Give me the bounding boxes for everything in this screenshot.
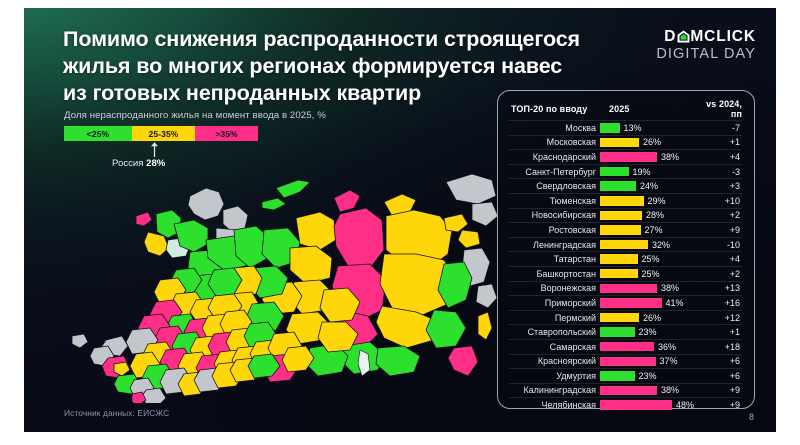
table-cell-value: 25% bbox=[600, 252, 696, 266]
table-cell-region: Пермский bbox=[508, 313, 600, 323]
table-cell-delta: +4 bbox=[696, 152, 742, 162]
table-header-name: ТОП-20 по вводу bbox=[508, 104, 599, 114]
table-row: Краснодарский38%+4 bbox=[508, 149, 742, 164]
value-label: 36% bbox=[658, 342, 676, 352]
house-icon bbox=[677, 30, 690, 43]
table-row: Башкортостан25%+2 bbox=[508, 266, 742, 281]
value-label: 38% bbox=[661, 283, 679, 293]
table-cell-delta: +4 bbox=[696, 254, 742, 264]
table-cell-delta: +9 bbox=[696, 385, 742, 395]
value-bar bbox=[600, 269, 638, 279]
value-bar bbox=[600, 167, 629, 177]
table-row: Санкт-Петербург19%-3 bbox=[508, 164, 742, 179]
value-bar bbox=[600, 181, 636, 191]
table-row: Новосибирская28%+2 bbox=[508, 208, 742, 223]
table-cell-delta: +13 bbox=[696, 283, 742, 293]
table-cell-region: Тюменская bbox=[508, 196, 600, 206]
table-cell-region: Ростовская bbox=[508, 225, 600, 235]
legend-color-scale: <25% 25-35% >35% bbox=[64, 126, 258, 141]
table-cell-delta: -10 bbox=[696, 240, 742, 250]
table-cell-delta: +6 bbox=[696, 371, 742, 381]
table-cell-region: Воронежская bbox=[508, 283, 600, 293]
table-cell-delta: +6 bbox=[696, 356, 742, 366]
table-cell-delta: -3 bbox=[696, 167, 742, 177]
table-cell-value: 32% bbox=[600, 238, 696, 252]
table-cell-region: Самарская bbox=[508, 342, 600, 352]
table-cell-delta: +1 bbox=[696, 137, 742, 147]
table-row: Ростовская27%+9 bbox=[508, 222, 742, 237]
value-label: 26% bbox=[643, 137, 661, 147]
table-cell-region: Ленинградская bbox=[508, 240, 600, 250]
table-row: Москва13%-7 bbox=[508, 120, 742, 135]
legend-segment-mid: 25-35% bbox=[132, 126, 195, 141]
table-cell-region: Калининградская bbox=[508, 385, 600, 395]
table-cell-value: 25% bbox=[600, 267, 696, 281]
value-label: 29% bbox=[648, 196, 666, 206]
russia-choropleth-map[interactable] bbox=[48, 158, 498, 403]
logo-wordmark-prefix: D bbox=[664, 28, 676, 45]
table-row: Калининградская38%+9 bbox=[508, 383, 742, 398]
value-label: 23% bbox=[639, 371, 657, 381]
table-cell-region: Свердловская bbox=[508, 181, 600, 191]
table-row: Ставропольский23%+1 bbox=[508, 324, 742, 339]
table-row: Свердловская24%+3 bbox=[508, 178, 742, 193]
value-label: 24% bbox=[640, 181, 658, 191]
table-row: Воронежская38%+13 bbox=[508, 281, 742, 296]
logo-wordmark: D MCLICK bbox=[656, 28, 756, 45]
table-header-value: 2025 bbox=[599, 104, 698, 114]
value-label: 23% bbox=[639, 327, 657, 337]
table-cell-region: Санкт-Петербург bbox=[508, 167, 600, 177]
table-cell-region: Ставропольский bbox=[508, 327, 600, 337]
table-row: Ленинградская32%-10 bbox=[508, 237, 742, 252]
value-label: 27% bbox=[645, 225, 663, 235]
logo-tagline: DIGITAL DAY bbox=[656, 46, 756, 63]
table-cell-value: 24% bbox=[600, 179, 696, 193]
table-cell-value: 37% bbox=[600, 355, 696, 369]
value-bar bbox=[600, 313, 639, 323]
value-label: 37% bbox=[660, 356, 678, 366]
table-cell-region: Татарстан bbox=[508, 254, 600, 264]
legend-caption: Доля нераспроданного жилья на момент вво… bbox=[64, 110, 326, 121]
table-row: Пермский26%+12 bbox=[508, 310, 742, 325]
table-row: Московская26%+1 bbox=[508, 135, 742, 150]
value-label: 41% bbox=[666, 298, 684, 308]
value-label: 48% bbox=[676, 400, 694, 410]
table-cell-value: 38% bbox=[600, 384, 696, 398]
table-cell-value: 23% bbox=[600, 369, 696, 383]
table-header-row: ТОП-20 по вводу 2025 vs 2024, пп bbox=[508, 100, 742, 117]
table-row: Тюменская29%+10 bbox=[508, 193, 742, 208]
table-cell-value: 19% bbox=[600, 165, 696, 179]
table-cell-value: 28% bbox=[600, 209, 696, 223]
value-bar bbox=[600, 357, 656, 367]
table-row: Челябинская48%+9 bbox=[508, 397, 742, 412]
table-cell-delta: +2 bbox=[696, 269, 742, 279]
table-row: Удмуртия23%+6 bbox=[508, 368, 742, 383]
value-label: 13% bbox=[624, 123, 642, 133]
table-cell-value: 29% bbox=[600, 194, 696, 208]
table-cell-value: 27% bbox=[600, 223, 696, 237]
logo-wordmark-suffix: MCLICK bbox=[690, 28, 756, 45]
top20-table-panel: ТОП-20 по вводу 2025 vs 2024, пп Москва1… bbox=[497, 90, 755, 409]
table-row: Красноярский37%+6 bbox=[508, 354, 742, 369]
value-bar bbox=[600, 196, 644, 206]
table-cell-value: 26% bbox=[600, 136, 696, 150]
table-cell-value: 13% bbox=[600, 121, 696, 135]
value-bar bbox=[600, 371, 635, 381]
value-bar bbox=[600, 400, 672, 410]
table-row: Самарская36%+18 bbox=[508, 339, 742, 354]
value-bar bbox=[600, 225, 641, 235]
value-bar bbox=[600, 123, 620, 133]
table-cell-region: Челябинская bbox=[508, 400, 600, 410]
value-bar bbox=[600, 138, 639, 148]
table-cell-value: 38% bbox=[600, 150, 696, 164]
value-label: 26% bbox=[643, 313, 661, 323]
table-cell-delta: +1 bbox=[696, 327, 742, 337]
table-cell-delta: +9 bbox=[696, 225, 742, 235]
table-cell-value: 48% bbox=[600, 398, 696, 412]
table-cell-delta: +16 bbox=[696, 298, 742, 308]
value-label: 28% bbox=[646, 210, 664, 220]
table-cell-value: 26% bbox=[600, 311, 696, 325]
table-cell-region: Новосибирская bbox=[508, 210, 600, 220]
value-bar bbox=[600, 298, 662, 308]
russia-marker-arrow-icon bbox=[150, 142, 159, 158]
table-cell-region: Красноярский bbox=[508, 356, 600, 366]
table-cell-value: 23% bbox=[600, 325, 696, 339]
table-cell-region: Удмуртия bbox=[508, 371, 600, 381]
value-bar bbox=[600, 240, 648, 250]
value-bar bbox=[600, 386, 657, 396]
value-label: 38% bbox=[661, 385, 679, 395]
legend-segment-high: >35% bbox=[195, 126, 258, 141]
table-body: Москва13%-7Московская26%+1Краснодарский3… bbox=[508, 120, 742, 412]
value-label: 25% bbox=[642, 269, 660, 279]
table-cell-delta: +12 bbox=[696, 313, 742, 323]
table-cell-delta: +2 bbox=[696, 210, 742, 220]
table-cell-region: Краснодарский bbox=[508, 152, 600, 162]
page-number: 8 bbox=[749, 412, 754, 422]
table-cell-value: 38% bbox=[600, 282, 696, 296]
value-label: 25% bbox=[642, 254, 660, 264]
value-bar bbox=[600, 284, 657, 294]
value-bar bbox=[600, 211, 642, 221]
table-cell-value: 41% bbox=[600, 296, 696, 310]
source-note: Источник данных: ЕИСЖС bbox=[64, 408, 169, 418]
domclick-logo: D MCLICK DIGITAL DAY bbox=[656, 28, 756, 63]
value-label: 38% bbox=[661, 152, 679, 162]
table-cell-region: Приморский bbox=[508, 298, 600, 308]
table-row: Татарстан25%+4 bbox=[508, 251, 742, 266]
table-cell-region: Москва bbox=[508, 123, 600, 133]
table-cell-delta: +3 bbox=[696, 181, 742, 191]
value-label: 32% bbox=[652, 240, 670, 250]
table-row: Приморский41%+16 bbox=[508, 295, 742, 310]
value-bar bbox=[600, 327, 635, 337]
value-bar bbox=[600, 254, 638, 264]
title-line-1: Помимо снижения распроданности строящего… bbox=[63, 26, 643, 53]
table-cell-delta: +18 bbox=[696, 342, 742, 352]
legend-segment-low: <25% bbox=[64, 126, 132, 141]
table-header-delta: vs 2024, пп bbox=[698, 99, 742, 119]
value-label: 19% bbox=[633, 167, 651, 177]
table-cell-region: Московская bbox=[508, 137, 600, 147]
slide-canvas: Помимо снижения распроданности строящего… bbox=[24, 8, 776, 432]
table-cell-value: 36% bbox=[600, 340, 696, 354]
table-cell-delta: +10 bbox=[696, 196, 742, 206]
table-cell-delta: +9 bbox=[696, 400, 742, 410]
table-cell-region: Башкортостан bbox=[508, 269, 600, 279]
value-bar bbox=[600, 342, 654, 352]
value-bar bbox=[600, 152, 657, 162]
table-cell-delta: -7 bbox=[696, 123, 742, 133]
title-line-2: жилья во многих регионах формируется нав… bbox=[63, 53, 643, 80]
